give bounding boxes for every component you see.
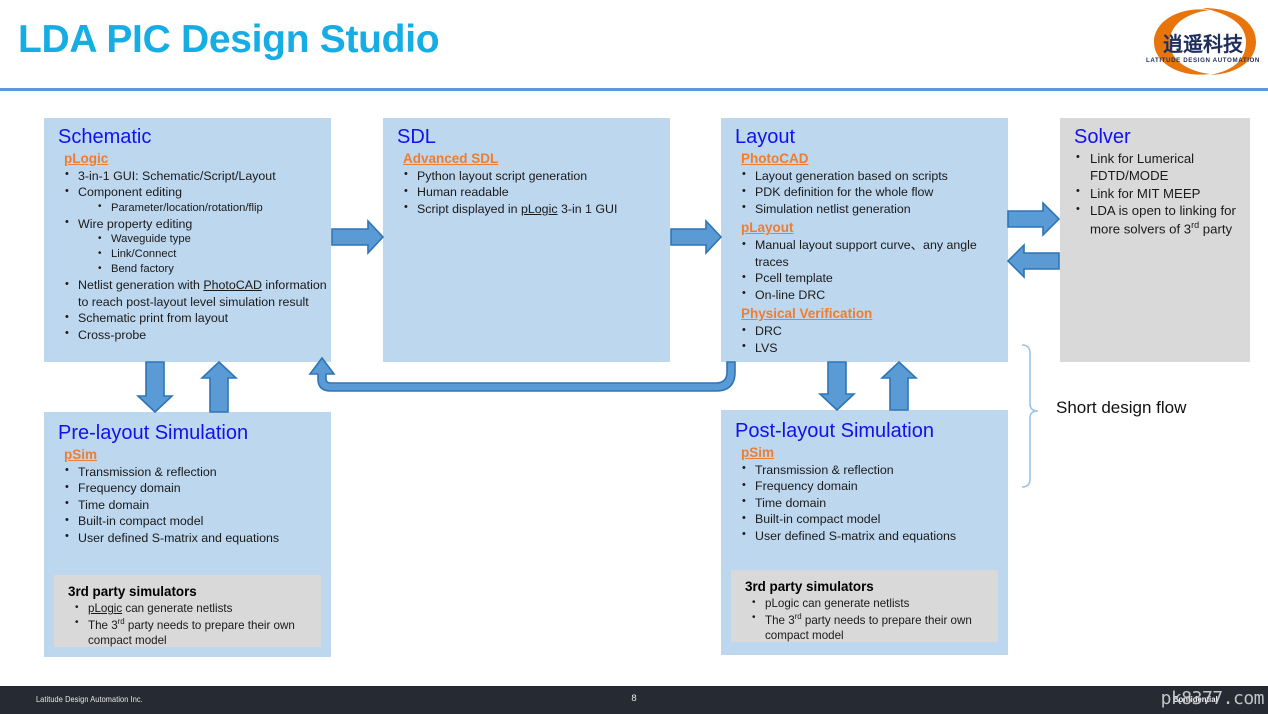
sdl-bullets: Python layout script generation Human re… [383, 168, 670, 218]
footer-page-number: 8 [0, 693, 1268, 704]
solver-bullets: Link for Lumerical FDTD/MODE Link for MI… [1060, 150, 1250, 238]
pre-layout-thirdparty-panel: 3rd party simulators pLogic can generate… [54, 575, 321, 647]
arrow-postlayout-to-layout [882, 362, 916, 410]
logo-mark-icon: 逍遥科技 LATITUDE DESIGN AUTOMATION [1144, 4, 1262, 80]
arrow-solver-to-layout [1008, 245, 1059, 277]
company-logo: 逍遥科技 LATITUDE DESIGN AUTOMATION [1144, 4, 1262, 80]
list-item: Pcell template [721, 270, 1008, 287]
short-design-flow-label: Short design flow [1056, 398, 1186, 418]
list-item: Transmission & reflection [44, 464, 331, 481]
arrow-schematic-to-prelayout [138, 362, 172, 412]
post-layout-simulation-box: Post-layout Simulation pSim Transmission… [721, 410, 1008, 655]
list-item: Parameter/location/rotation/flip [44, 201, 331, 216]
header-divider [0, 88, 1268, 91]
schematic-box: Schematic pLogic 3-in-1 GUI: Schematic/S… [44, 118, 331, 362]
logo-english-name: LATITUDE DESIGN AUTOMATION [1146, 57, 1260, 64]
thirdparty-heading: 3rd party simulators [54, 575, 321, 601]
list-item: pLogic can generate netlists [731, 596, 998, 612]
list-item: Waveguide type [44, 232, 331, 247]
post-layout-bullets: Transmission & reflection Frequency doma… [721, 462, 1008, 545]
solver-box: Solver Link for Lumerical FDTD/MODE Link… [1060, 118, 1250, 362]
thirdparty-heading: 3rd party simulators [731, 570, 998, 596]
photocad-link: PhotoCAD [203, 278, 262, 292]
arrow-schematic-to-sdl [332, 221, 383, 253]
list-item: The 3rd party needs to prepare their own… [731, 612, 998, 644]
list-item: On-line DRC [721, 287, 1008, 304]
list-item: Cross-probe [44, 327, 331, 344]
slide-footer: Latitude Design Automation Inc. 8 Confid… [0, 686, 1268, 714]
layout-section-heading-photocad: PhotoCAD [721, 151, 1008, 168]
schematic-sub-bullets-1: Parameter/location/rotation/flip [44, 201, 331, 216]
arrow-layout-to-sdl-feedback [310, 358, 735, 391]
list-item: 3-in-1 GUI: Schematic/Script/Layout [44, 168, 331, 185]
thirdparty-bullets: pLogic can generate netlists The 3rd par… [731, 596, 998, 644]
layout-title: Layout [721, 118, 1008, 150]
sdl-section-heading-advanced-sdl: Advanced SDL [383, 151, 670, 168]
list-item: Wire property editing [44, 216, 331, 233]
list-item: Built-in compact model [721, 511, 1008, 528]
post-layout-thirdparty-panel: 3rd party simulators pLogic can generate… [731, 570, 998, 642]
post-layout-heading-psim: pSim [721, 445, 1008, 462]
schematic-bullets-3: Netlist generation with PhotoCAD informa… [44, 277, 331, 343]
list-item: Frequency domain [721, 478, 1008, 495]
schematic-sub-bullets-2: Waveguide type Link/Connect Bend factory [44, 232, 331, 277]
schematic-bullets-2: Wire property editing [44, 216, 331, 233]
sdl-title: SDL [383, 118, 670, 150]
list-item: The 3rd party needs to prepare their own… [54, 617, 321, 649]
list-item: Simulation netlist generation [721, 201, 1008, 218]
slide-canvas: LDA PIC Design Studio 逍遥科技 LATITUDE DESI… [0, 0, 1268, 714]
sdl-box: SDL Advanced SDL Python layout script ge… [383, 118, 670, 362]
list-item: DRC [721, 323, 1008, 340]
list-item: Layout generation based on scripts [721, 168, 1008, 185]
list-item: User defined S-matrix and equations [44, 530, 331, 547]
schematic-section-heading-plogic: pLogic [44, 151, 331, 168]
list-item: Manual layout support curve、any angle tr… [721, 237, 1008, 270]
layout-photocad-bullets: Layout generation based on scripts PDK d… [721, 168, 1008, 218]
list-item: Schematic print from layout [44, 310, 331, 327]
pre-layout-heading-psim: pSim [44, 447, 331, 464]
page-title: LDA PIC Design Studio [18, 18, 439, 62]
watermark-text: pk8377.com [1161, 688, 1264, 709]
arrow-sdl-to-layout [671, 221, 721, 253]
list-item: LDA is open to linking for more solvers … [1060, 202, 1250, 237]
pre-layout-title: Pre-layout Simulation [44, 412, 331, 446]
list-item: Link for Lumerical FDTD/MODE [1060, 150, 1250, 185]
list-item: Script displayed in pLogic 3-in 1 GUI [383, 201, 670, 218]
schematic-title: Schematic [44, 118, 331, 150]
list-item: Python layout script generation [383, 168, 670, 185]
arrow-layout-to-postlayout [820, 362, 854, 410]
post-layout-title: Post-layout Simulation [721, 410, 1008, 444]
list-item: User defined S-matrix and equations [721, 528, 1008, 545]
schematic-bullets: 3-in-1 GUI: Schematic/Script/Layout Comp… [44, 168, 331, 201]
list-item: Bend factory [44, 262, 331, 277]
list-item: Frequency domain [44, 480, 331, 497]
layout-section-heading-playout: pLayout [721, 220, 1008, 237]
thirdparty-bullets: pLogic can generate netlists The 3rd par… [54, 601, 321, 649]
list-item: Built-in compact model [44, 513, 331, 530]
layout-playout-bullets: Manual layout support curve、any angle tr… [721, 237, 1008, 303]
list-item: Transmission & reflection [721, 462, 1008, 479]
short-design-flow-brace [1022, 345, 1038, 487]
pre-layout-bullets: Transmission & reflection Frequency doma… [44, 464, 331, 547]
list-item: Human readable [383, 184, 670, 201]
logo-chinese-name: 逍遥科技 [1163, 32, 1244, 56]
layout-box: Layout PhotoCAD Layout generation based … [721, 118, 1008, 362]
plogic-link: pLogic [521, 202, 558, 216]
list-item: Link for MIT MEEP [1060, 185, 1250, 202]
list-item: pLogic can generate netlists [54, 601, 321, 617]
list-item: Netlist generation with PhotoCAD informa… [44, 277, 331, 310]
list-item: PDK definition for the whole flow [721, 184, 1008, 201]
layout-pv-bullets: DRC LVS [721, 323, 1008, 356]
slide-header: LDA PIC Design Studio 逍遥科技 LATITUDE DESI… [0, 0, 1268, 88]
list-item: Component editing [44, 184, 331, 201]
pre-layout-simulation-box: Pre-layout Simulation pSim Transmission … [44, 412, 331, 657]
solver-title: Solver [1060, 118, 1250, 150]
arrow-layout-to-solver [1008, 203, 1059, 235]
list-item: Time domain [44, 497, 331, 514]
arrow-prelayout-to-schematic [202, 362, 236, 412]
list-item: Time domain [721, 495, 1008, 512]
layout-section-heading-physical-verification: Physical Verification [721, 306, 1008, 323]
list-item: Link/Connect [44, 247, 331, 262]
plogic-link: pLogic [88, 602, 122, 615]
list-item: LVS [721, 340, 1008, 357]
